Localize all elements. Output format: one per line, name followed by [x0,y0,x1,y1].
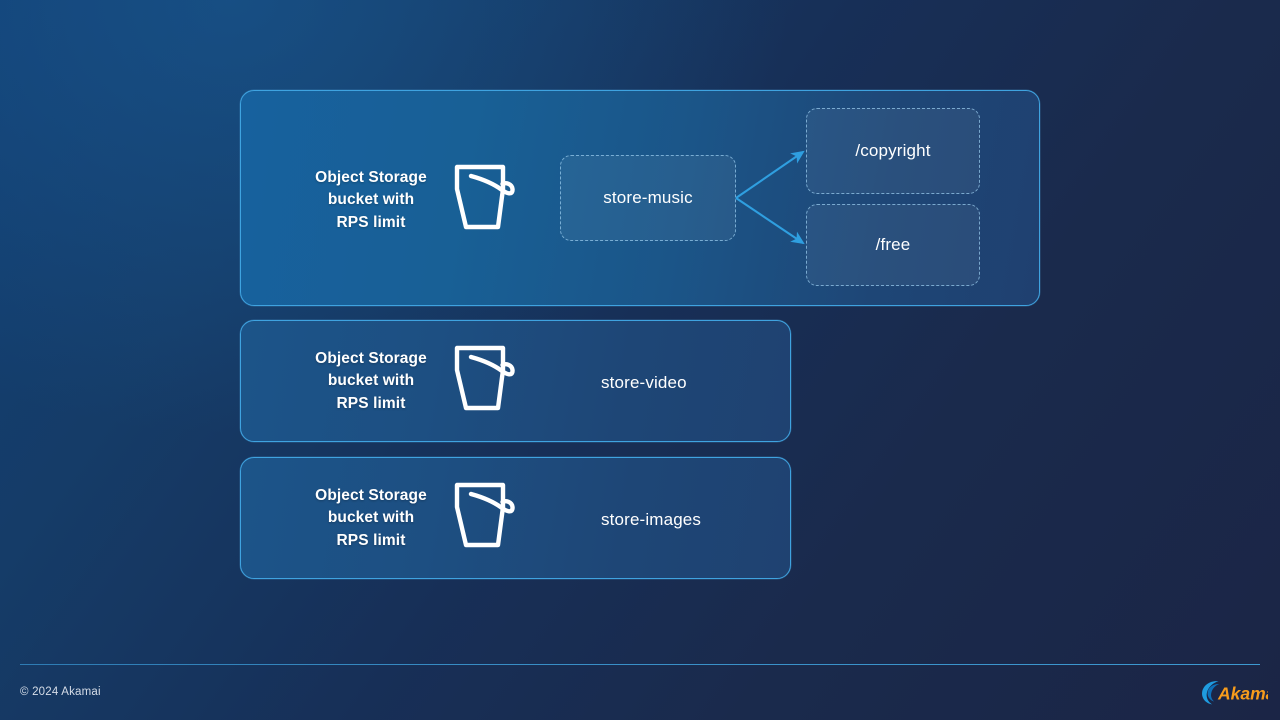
node-store-images-label: store-images [601,510,701,530]
bucket-panel-store-images: Object Storage bucket with RPS limit sto… [240,457,791,579]
footer-divider [20,664,1260,665]
node-free[interactable]: /free [806,204,980,286]
node-copyright[interactable]: /copyright [806,108,980,194]
bucket-icon [452,479,520,556]
bucket-panel-store-video: Object Storage bucket with RPS limit sto… [240,320,791,442]
bucket-panel-label-store-images: Object Storage bucket with RPS limit [307,485,435,552]
footer-copyright: © 2024 Akamai [20,686,101,698]
node-store-video-label: store-video [601,373,687,393]
akamai-logo: Akamai [1196,678,1268,706]
akamai-wave-icon [1202,681,1219,704]
node-store-music-label: store-music [603,188,693,208]
node-free-label: /free [876,235,911,255]
node-store-music[interactable]: store-music [560,155,736,241]
bucket-icon [452,342,520,419]
node-copyright-label: /copyright [855,141,930,161]
akamai-logo-text: Akamai [1217,684,1268,704]
bucket-panel-label-store-music: Object Storage bucket with RPS limit [307,167,435,234]
bucket-icon [452,161,520,238]
slide-canvas: Object Storage bucket with RPS limit sto… [0,0,1280,720]
bucket-panel-label-store-video: Object Storage bucket with RPS limit [307,348,435,415]
